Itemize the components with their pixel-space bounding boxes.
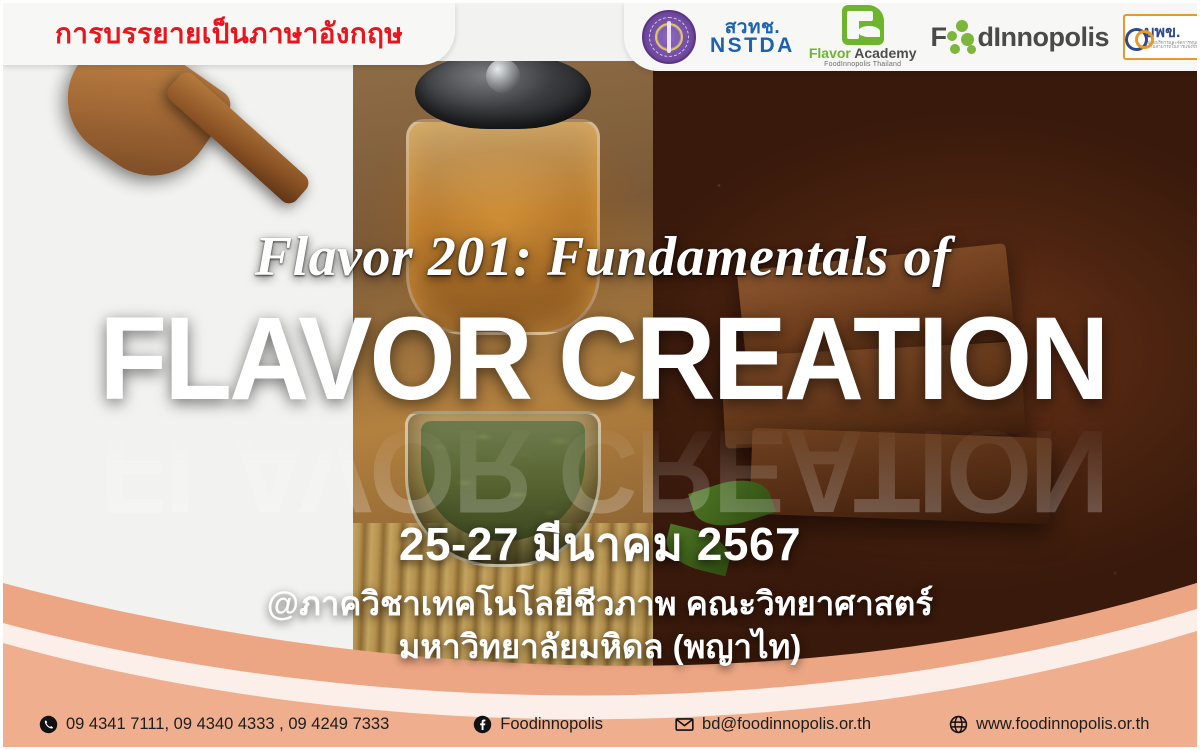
seal-emblem-shape xyxy=(667,21,671,53)
phone-text: 09 4341 7111, 09 4340 4333 , 09 4249 733… xyxy=(66,715,389,734)
language-notice-text: การบรรยายเป็นภาษาอังกฤษ xyxy=(55,12,403,56)
contact-facebook[interactable]: Foodinnopolis xyxy=(473,715,603,734)
foodinnopolis-prefix: F xyxy=(931,22,947,53)
teapot-body-shape xyxy=(406,119,600,335)
language-notice-ribbon: การบรรยายเป็นภาษาอังกฤษ xyxy=(3,3,455,65)
event-date: 25-27 มีนาคม 2567 xyxy=(3,508,1197,581)
flavor-academy-name-second: Academy xyxy=(854,45,916,61)
flavor-academy-tagline: FoodInnopolis Thailand xyxy=(824,61,901,68)
foodinnopolis-suffix: dInnopolis xyxy=(978,22,1109,53)
globe-icon xyxy=(949,715,968,734)
sponsor-logo-strip: สวทช. NSTDA Flavor Academy FoodInnopolis… xyxy=(624,3,1197,71)
event-details: 25-27 มีนาคม 2567 @ภาควิชาเทคโนโลยีชีวภา… xyxy=(3,508,1197,668)
flavor-academy-name-first: Flavor xyxy=(809,45,851,61)
flavor-academy-mark-icon xyxy=(842,5,884,45)
contact-phone[interactable]: 09 4341 7111, 09 4340 4333 , 09 4249 733… xyxy=(39,715,389,734)
email-text: bd@foodinnopolis.or.th xyxy=(702,715,871,734)
event-poster: การบรรยายเป็นภาษาอังกฤษ สวทช. NSTDA Flav… xyxy=(0,0,1200,750)
contact-email[interactable]: bd@foodinnopolis.or.th xyxy=(675,715,871,734)
flavor-academy-logo: Flavor Academy FoodInnopolis Thailand xyxy=(809,5,917,68)
contact-website[interactable]: www.foodinnopolis.or.th xyxy=(949,715,1149,734)
phone-icon xyxy=(39,715,58,734)
contact-footer: 09 4341 7111, 09 4340 4333 , 09 4249 733… xyxy=(3,701,1200,747)
mail-icon xyxy=(675,715,694,734)
facebook-icon xyxy=(473,715,492,734)
foodinnopolis-logo: F dInnopolis xyxy=(931,20,1109,54)
nstda-logo: สวทช. NSTDA xyxy=(710,18,795,56)
facebook-text: Foodinnopolis xyxy=(500,715,603,734)
mahidol-university-seal-icon xyxy=(642,10,696,64)
flavor-academy-name: Flavor Academy xyxy=(809,46,917,61)
nstda-latin-label: NSTDA xyxy=(710,35,795,56)
event-venue-line-1: @ภาควิชาเทคโนโลยีชีวภาพ คณะวิทยาศาสตร์ xyxy=(3,583,1197,624)
pmuc-logo: บพข. หน่วยบริหารและจัดการทุนด้านการเพิ่ม… xyxy=(1123,14,1200,60)
molecule-icon xyxy=(947,20,977,54)
pmuc-mark-icon xyxy=(1125,28,1139,46)
website-text: www.foodinnopolis.or.th xyxy=(976,715,1149,734)
event-venue-line-2: มหาวิทยาลัยมหิดล (พญาไท) xyxy=(3,626,1197,667)
